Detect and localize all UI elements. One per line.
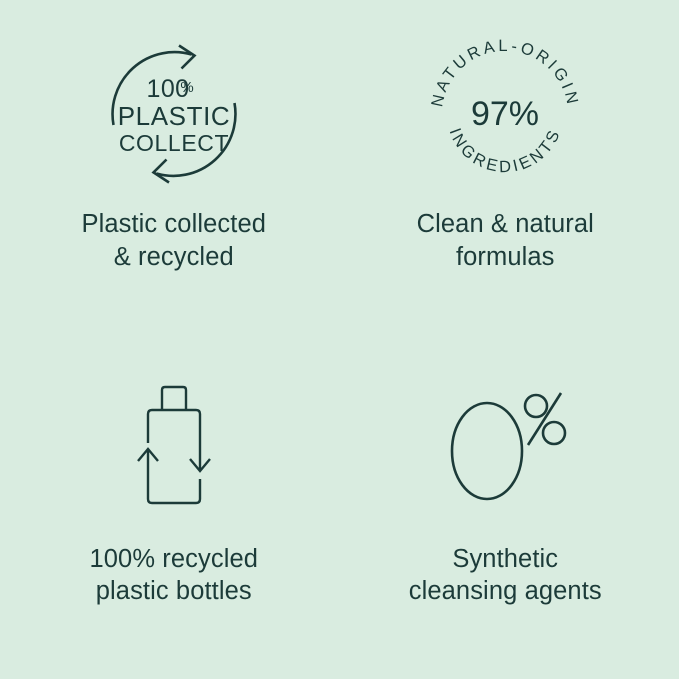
icon-slot: NATURAL-ORIGIN INGREDIENTS 97%	[430, 34, 580, 194]
icon-slot: 100 % PLASTIC COLLECT	[99, 34, 249, 194]
percent-upper-ring	[525, 395, 547, 417]
badge-recycled-bottles: 100% recycled plastic bottles	[8, 329, 340, 624]
badge-plastic-collected: 100 % PLASTIC COLLECT Plastic collected …	[8, 34, 340, 329]
badge-zero-synthetics: Synthetic cleansing agents	[340, 329, 672, 624]
badge-clean-natural: NATURAL-ORIGIN INGREDIENTS 97% Clean & n…	[340, 34, 672, 329]
icon-slot	[122, 371, 226, 521]
natural-origin-seal-icon: NATURAL-ORIGIN INGREDIENTS 97%	[430, 39, 580, 189]
icon-slot	[442, 371, 568, 521]
badge-grid: 100 % PLASTIC COLLECT Plastic collected …	[0, 0, 679, 679]
badge-caption: Clean & natural formulas	[417, 208, 594, 273]
recycling-arrows-circle-icon: 100 % PLASTIC COLLECT	[99, 39, 249, 189]
badge-caption: Plastic collected & recycled	[81, 208, 266, 273]
percent-lower-ring	[543, 422, 565, 444]
zero-percent-icon	[442, 383, 568, 508]
icon-text-line2: PLASTIC	[117, 101, 230, 131]
icon-text-line3: COLLECT	[119, 130, 229, 156]
zero-glyph	[452, 403, 522, 499]
badge-caption: Synthetic cleansing agents	[409, 543, 602, 608]
seal-center-value: 97%	[471, 95, 539, 133]
recycled-bottle-icon	[122, 381, 226, 511]
badge-caption: 100% recycled plastic bottles	[89, 543, 258, 608]
icon-text-percent: %	[180, 79, 193, 96]
